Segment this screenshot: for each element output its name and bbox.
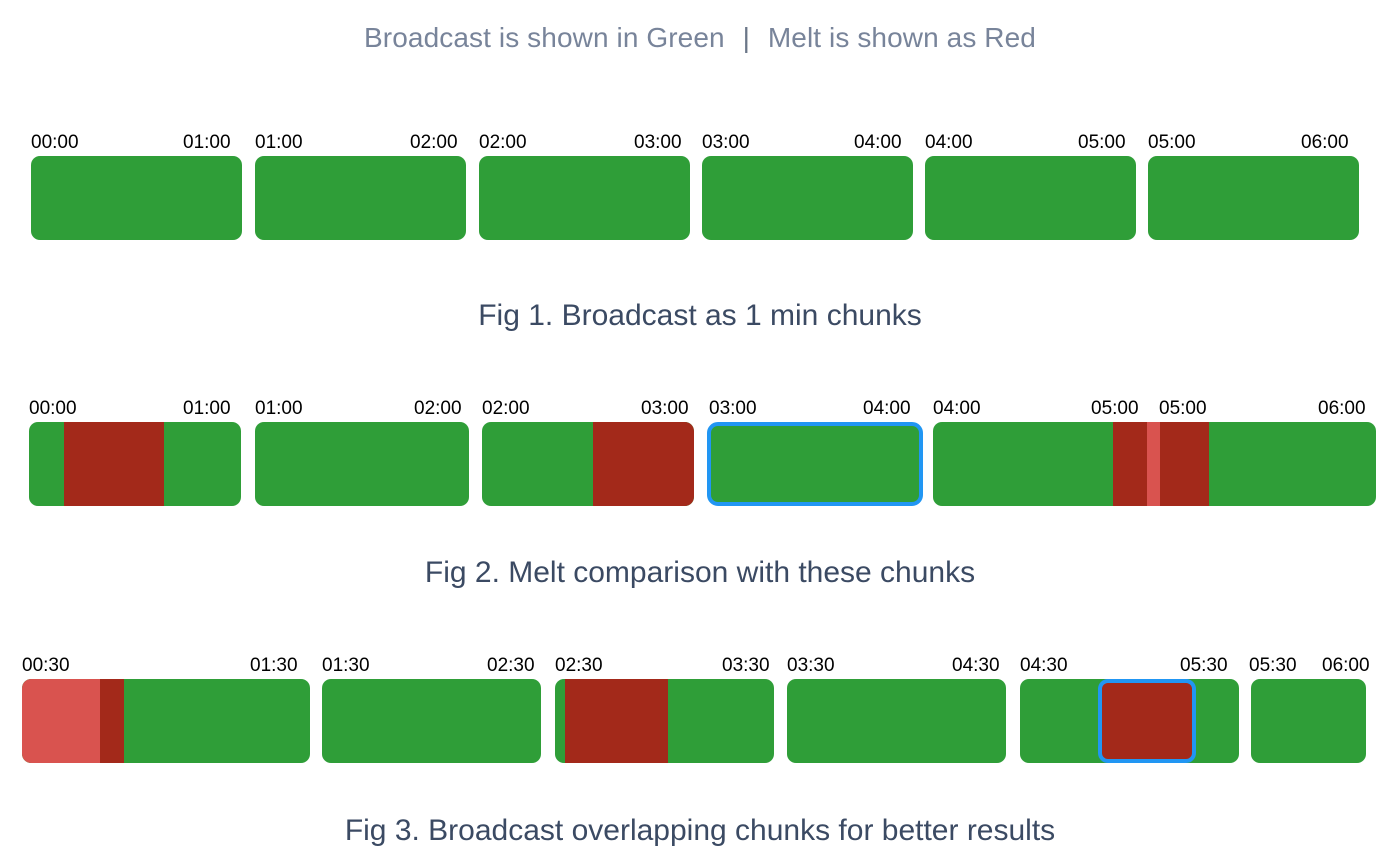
time-tick: 00:00: [29, 396, 77, 422]
figure-3-tick-row: 00:3001:3001:3002:3002:3003:3003:3004:30…: [0, 653, 1400, 679]
time-tick: 01:00: [183, 396, 231, 422]
time-tick: 03:00: [634, 130, 682, 156]
melt-segment[interactable]: [565, 679, 668, 763]
chunk-bar[interactable]: [22, 679, 310, 763]
chunk-bar[interactable]: [925, 156, 1136, 240]
chunk-bar[interactable]: [555, 679, 774, 763]
figure-2-bar-row: [0, 422, 1400, 510]
chunk-bar[interactable]: [1020, 679, 1239, 763]
time-tick: 06:00: [1318, 396, 1366, 422]
chunk-bar[interactable]: [787, 679, 1006, 763]
chunk-bar-selected[interactable]: [707, 422, 923, 506]
time-tick: 03:00: [702, 130, 750, 156]
figure-3-caption: Fig 3. Broadcast overlapping chunks for …: [0, 814, 1400, 848]
time-tick: 04:00: [933, 396, 981, 422]
time-tick: 01:30: [250, 653, 298, 679]
figure-2-tick-row: 00:0001:0001:0002:0002:0003:0003:0004:00…: [0, 396, 1400, 422]
melt-segment[interactable]: [1147, 422, 1160, 506]
chunk-bar[interactable]: [482, 422, 694, 506]
time-tick: 04:00: [863, 396, 911, 422]
chunk-bar[interactable]: [255, 422, 469, 506]
melt-segment[interactable]: [1113, 422, 1147, 506]
melt-segment-selected[interactable]: [1098, 679, 1196, 763]
time-tick: 05:00: [1159, 396, 1207, 422]
figure-3: 00:3001:3001:3002:3002:3003:3003:3004:30…: [0, 653, 1400, 767]
time-tick: 02:00: [414, 396, 462, 422]
time-tick: 02:30: [555, 653, 603, 679]
chunk-bar[interactable]: [702, 156, 913, 240]
page-root: Broadcast is shown in Green | Melt is sh…: [0, 0, 1400, 856]
chunk-bar[interactable]: [29, 422, 241, 506]
chunk-bar[interactable]: [933, 422, 1376, 506]
legend-separator: |: [733, 22, 760, 54]
time-tick: 02:00: [482, 396, 530, 422]
melt-segment[interactable]: [22, 679, 100, 763]
figure-1: 00:0001:0001:0002:0002:0003:0003:0004:00…: [0, 130, 1400, 244]
figure-2: 00:0001:0001:0002:0002:0003:0003:0004:00…: [0, 396, 1400, 510]
time-tick: 04:00: [854, 130, 902, 156]
chunk-bar[interactable]: [1251, 679, 1366, 763]
time-tick: 05:00: [1091, 396, 1139, 422]
time-tick: 01:00: [255, 396, 303, 422]
time-tick: 02:00: [410, 130, 458, 156]
chunk-bar[interactable]: [1148, 156, 1359, 240]
time-tick: 04:00: [925, 130, 973, 156]
legend-header: Broadcast is shown in Green | Melt is sh…: [0, 22, 1400, 54]
figure-3-bar-row: [0, 679, 1400, 767]
legend-broadcast-text: Broadcast is shown in Green: [364, 22, 725, 53]
time-tick: 05:00: [1078, 130, 1126, 156]
figure-2-caption: Fig 2. Melt comparison with these chunks: [0, 556, 1400, 590]
legend-melt-text: Melt is shown as Red: [768, 22, 1036, 53]
time-tick: 04:30: [1020, 653, 1068, 679]
time-tick: 01:00: [255, 130, 303, 156]
time-tick: 06:00: [1322, 653, 1370, 679]
time-tick: 02:30: [487, 653, 535, 679]
time-tick: 03:30: [722, 653, 770, 679]
time-tick: 06:00: [1301, 130, 1349, 156]
melt-segment[interactable]: [64, 422, 164, 506]
time-tick: 00:30: [22, 653, 70, 679]
figure-1-bar-row: [0, 156, 1400, 244]
time-tick: 03:00: [641, 396, 689, 422]
time-tick: 01:00: [183, 130, 231, 156]
time-tick: 00:00: [31, 130, 79, 156]
time-tick: 02:00: [479, 130, 527, 156]
chunk-bar[interactable]: [322, 679, 541, 763]
figure-1-tick-row: 00:0001:0001:0002:0002:0003:0003:0004:00…: [0, 130, 1400, 156]
time-tick: 04:30: [952, 653, 1000, 679]
melt-segment[interactable]: [593, 422, 694, 506]
time-tick: 05:00: [1148, 130, 1196, 156]
melt-segment[interactable]: [1160, 422, 1209, 506]
figure-1-caption: Fig 1. Broadcast as 1 min chunks: [0, 299, 1400, 333]
chunk-bar[interactable]: [479, 156, 690, 240]
time-tick: 01:30: [322, 653, 370, 679]
time-tick: 05:30: [1180, 653, 1228, 679]
time-tick: 03:00: [709, 396, 757, 422]
time-tick: 05:30: [1249, 653, 1297, 679]
chunk-bar[interactable]: [255, 156, 466, 240]
melt-segment[interactable]: [100, 679, 124, 763]
time-tick: 03:30: [787, 653, 835, 679]
chunk-bar[interactable]: [31, 156, 242, 240]
